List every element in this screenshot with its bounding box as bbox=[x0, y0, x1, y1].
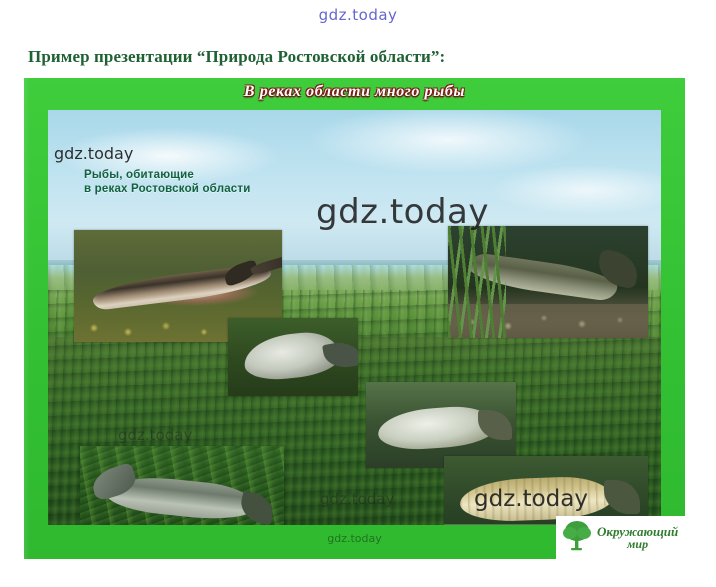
grass-carp-photo-content bbox=[80, 446, 284, 525]
carp-photo-content bbox=[444, 456, 648, 525]
carp-photo bbox=[444, 456, 648, 525]
reeds bbox=[448, 226, 506, 338]
slide-title: В реках области много рыбы bbox=[24, 83, 685, 101]
presentation-slide: В реках области много рыбы Рыбы, обитающ… bbox=[24, 78, 685, 559]
grass-carp-photo bbox=[80, 446, 284, 525]
bream-photo-content bbox=[228, 318, 358, 396]
page-title: Пример презентации “Природа Ростовской о… bbox=[28, 47, 445, 67]
tree-icon bbox=[562, 519, 592, 556]
photo-collage: Рыбы, обитающие в реках Ростовской облас… bbox=[48, 110, 661, 525]
collage-caption: Рыбы, обитающие в реках Ростовской облас… bbox=[84, 168, 251, 196]
top-watermark: gdz.today bbox=[0, 6, 716, 24]
pike-photo bbox=[448, 226, 648, 338]
okruzhayushchiy-mir-logo: Окружающий мир bbox=[556, 516, 685, 559]
carp-tail bbox=[604, 480, 640, 514]
logo-text: Окружающий мир bbox=[597, 525, 678, 551]
pike-photo-content bbox=[448, 226, 648, 338]
logo-line-2: мир bbox=[597, 538, 678, 551]
bream-photo bbox=[228, 318, 358, 396]
